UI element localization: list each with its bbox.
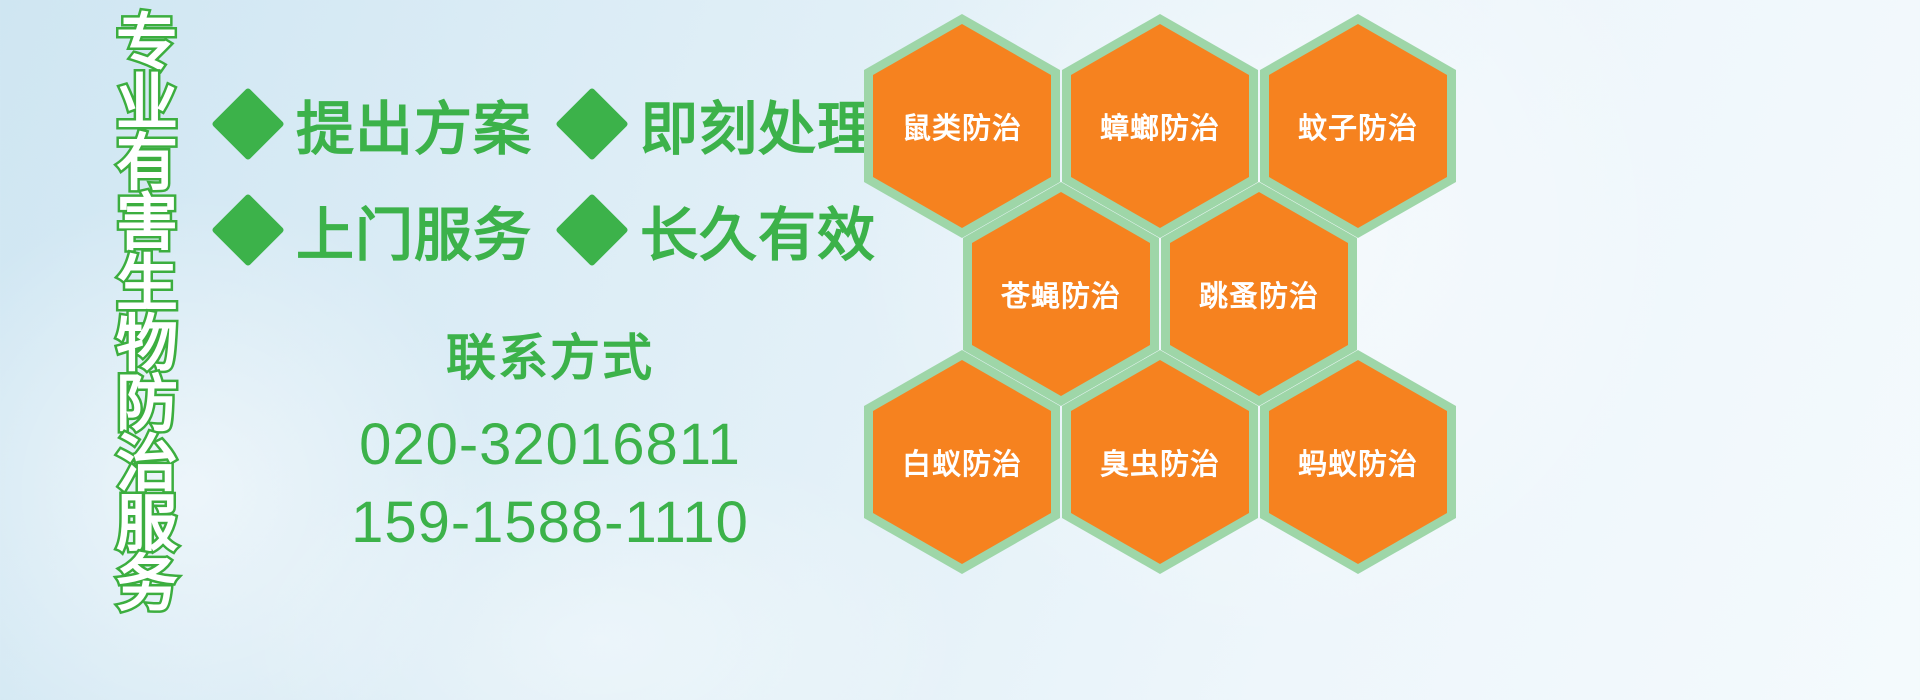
vertical-headline-char: 有 <box>116 134 178 194</box>
service-hex-label: 苍蝇防治 <box>1001 273 1121 315</box>
diamond-bullet-icon <box>555 193 629 267</box>
vertical-headline-char: 业 <box>116 74 178 134</box>
service-hex-label: 鼠类防治 <box>902 105 1022 147</box>
hex-inner: 鼠类防治 <box>873 24 1051 228</box>
hex-inner: 白蚁防治 <box>873 360 1051 564</box>
feature-label: 提出方案 <box>296 82 532 166</box>
hex-inner: 跳蚤防治 <box>1170 192 1348 396</box>
hex-inner: 蚊子防治 <box>1269 24 1447 228</box>
service-hex-label: 蟑螂防治 <box>1100 105 1220 147</box>
feature-label: 上门服务 <box>296 188 532 272</box>
vertical-headline: 专 业 有 害 生 物 防 治 服 务 <box>104 14 190 574</box>
service-hex-label: 臭虫防治 <box>1100 441 1220 483</box>
hex-inner: 苍蝇防治 <box>972 192 1150 396</box>
contact-phone-mobile[interactable]: 159-1588-1110 <box>230 484 870 562</box>
vertical-headline-char: 务 <box>116 555 178 615</box>
contact-block: 联系方式 020-32016811 159-1588-1110 <box>230 318 870 561</box>
vertical-headline-char: 防 <box>116 375 178 435</box>
hex-inner: 臭虫防治 <box>1071 360 1249 564</box>
feature-list: 提出方案 即刻处理 上门服务 长久有效 <box>222 82 862 294</box>
contact-heading: 联系方式 <box>230 318 870 390</box>
diamond-bullet-icon <box>211 193 285 267</box>
service-hex-label: 蚊子防治 <box>1298 105 1418 147</box>
diamond-bullet-icon <box>555 87 629 161</box>
feature-row: 提出方案 即刻处理 <box>222 82 862 166</box>
service-hex-label: 跳蚤防治 <box>1199 273 1319 315</box>
vertical-headline-char: 生 <box>116 255 178 315</box>
feature-row: 上门服务 长久有效 <box>222 188 862 272</box>
feature-label: 即刻处理 <box>640 82 876 166</box>
vertical-headline-char: 专 <box>116 14 178 74</box>
service-hex-label: 蚂蚁防治 <box>1298 441 1418 483</box>
contact-phone-landline[interactable]: 020-32016811 <box>230 406 870 484</box>
hex-inner: 蚂蚁防治 <box>1269 360 1447 564</box>
hex-inner: 蟑螂防治 <box>1071 24 1249 228</box>
vertical-headline-char: 物 <box>116 315 178 375</box>
vertical-headline-char: 服 <box>116 495 178 555</box>
vertical-headline-char: 害 <box>116 194 178 254</box>
feature-label: 长久有效 <box>640 188 876 272</box>
service-hex-label: 白蚁防治 <box>902 441 1022 483</box>
diamond-bullet-icon <box>211 87 285 161</box>
vertical-headline-char: 治 <box>116 435 178 495</box>
service-honeycomb: 鼠类防治 蟑螂防治 蚊子防治 苍蝇防治 跳蚤防治 白蚁防治 臭虫防治 蚂蚁防治 <box>858 8 1478 568</box>
